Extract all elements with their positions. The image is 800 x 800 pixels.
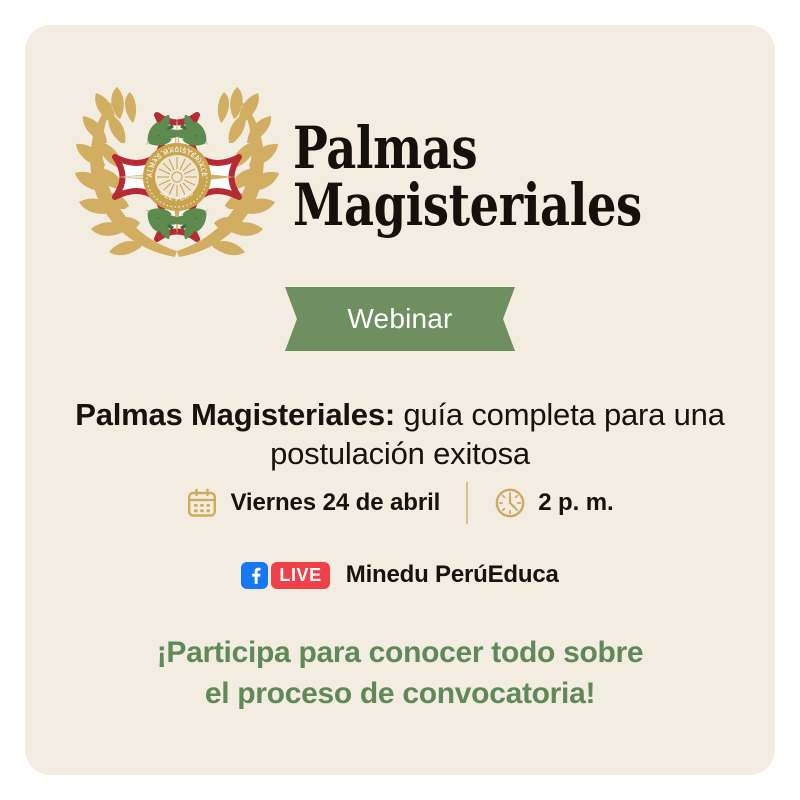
broadcast-row: LIVE Minedu PerúEduca bbox=[25, 553, 775, 597]
cta-line-2: el proceso de convocatoria! bbox=[65, 674, 735, 715]
event-date-text: Viernes 24 de abril bbox=[230, 489, 440, 517]
brand-wordmark: Palmas Magisteriales bbox=[293, 120, 729, 235]
clock-icon bbox=[494, 487, 526, 519]
facebook-icon[interactable] bbox=[241, 562, 268, 589]
broadcast-channel: Minedu PerúEduca bbox=[346, 561, 559, 589]
webinar-ribbon-label: Webinar bbox=[347, 303, 452, 335]
brand-header: PALMAS MAGISTERIALES DEL PERÚ Palmas Mag… bbox=[25, 81, 775, 271]
palmas-magisteriales-emblem: PALMAS MAGISTERIALES DEL PERÚ bbox=[71, 81, 283, 271]
event-time: 2 p. m. bbox=[494, 487, 613, 519]
emblem-medallion: PALMAS MAGISTERIALES DEL PERÚ bbox=[143, 143, 211, 211]
headline-bold: Palmas Magisteriales: bbox=[75, 397, 395, 432]
webinar-ribbon-wrap: Webinar bbox=[25, 287, 775, 351]
poster-card: PALMAS MAGISTERIALES DEL PERÚ Palmas Mag… bbox=[25, 25, 775, 775]
webinar-ribbon: Webinar bbox=[285, 287, 515, 351]
event-meta-row: Viernes 24 de abril bbox=[25, 475, 775, 531]
meta-divider bbox=[466, 482, 468, 524]
event-time-text: 2 p. m. bbox=[538, 489, 613, 517]
wordmark-line-1: Palmas bbox=[293, 120, 642, 177]
event-date: Viernes 24 de abril bbox=[186, 487, 440, 519]
call-to-action: ¡Participa para conocer todo sobre el pr… bbox=[25, 633, 775, 714]
facebook-f-glyph bbox=[246, 566, 264, 584]
live-badge: LIVE bbox=[271, 562, 329, 589]
wordmark-line-2: Magisteriales bbox=[293, 177, 642, 234]
calendar-icon bbox=[186, 487, 218, 519]
event-headline: Palmas Magisteriales: guía completa para… bbox=[25, 395, 775, 473]
cta-line-1: ¡Participa para conocer todo sobre bbox=[65, 633, 735, 674]
